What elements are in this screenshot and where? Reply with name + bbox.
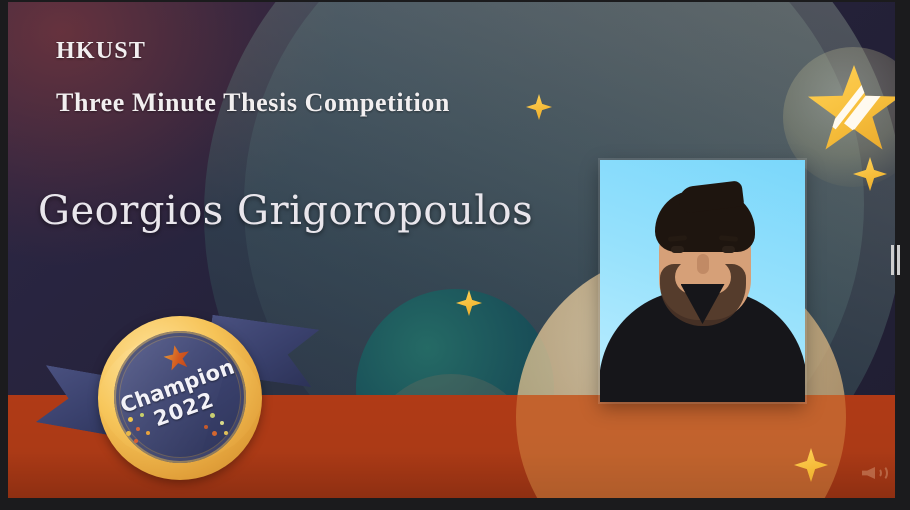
medal-outer-ring: Champion 2022 [98, 316, 262, 480]
slide-canvas[interactable]: HKUST Three Minute Thesis Competition Ge… [8, 2, 895, 498]
confetti-dot [204, 425, 208, 429]
volume-icon[interactable] [862, 462, 888, 484]
confetti-dot [220, 421, 224, 425]
presentation-viewer: HKUST Three Minute Thesis Competition Ge… [0, 0, 910, 510]
pause-icon[interactable] [889, 244, 901, 276]
organization-title: HKUST [56, 38, 146, 65]
medal-face: Champion 2022 [114, 331, 246, 463]
confetti-dot [126, 431, 131, 436]
photo-nose [697, 254, 709, 274]
confetti-dot [134, 439, 138, 443]
event-title: Three Minute Thesis Competition [56, 88, 450, 118]
photo-eye-right [722, 246, 735, 253]
confetti-dot [212, 431, 217, 436]
confetti-dot [128, 417, 133, 422]
photo-eye-left [671, 246, 684, 253]
champion-badge: Champion 2022 [26, 302, 346, 492]
confetti-dot [136, 427, 140, 431]
confetti-dot [140, 413, 144, 417]
presenter-name: Georgios Grigoropoulos [38, 188, 533, 234]
confetti-dot [146, 431, 150, 435]
confetti-dot [210, 413, 215, 418]
presenter-photo [600, 160, 805, 402]
confetti-dot [224, 431, 228, 435]
